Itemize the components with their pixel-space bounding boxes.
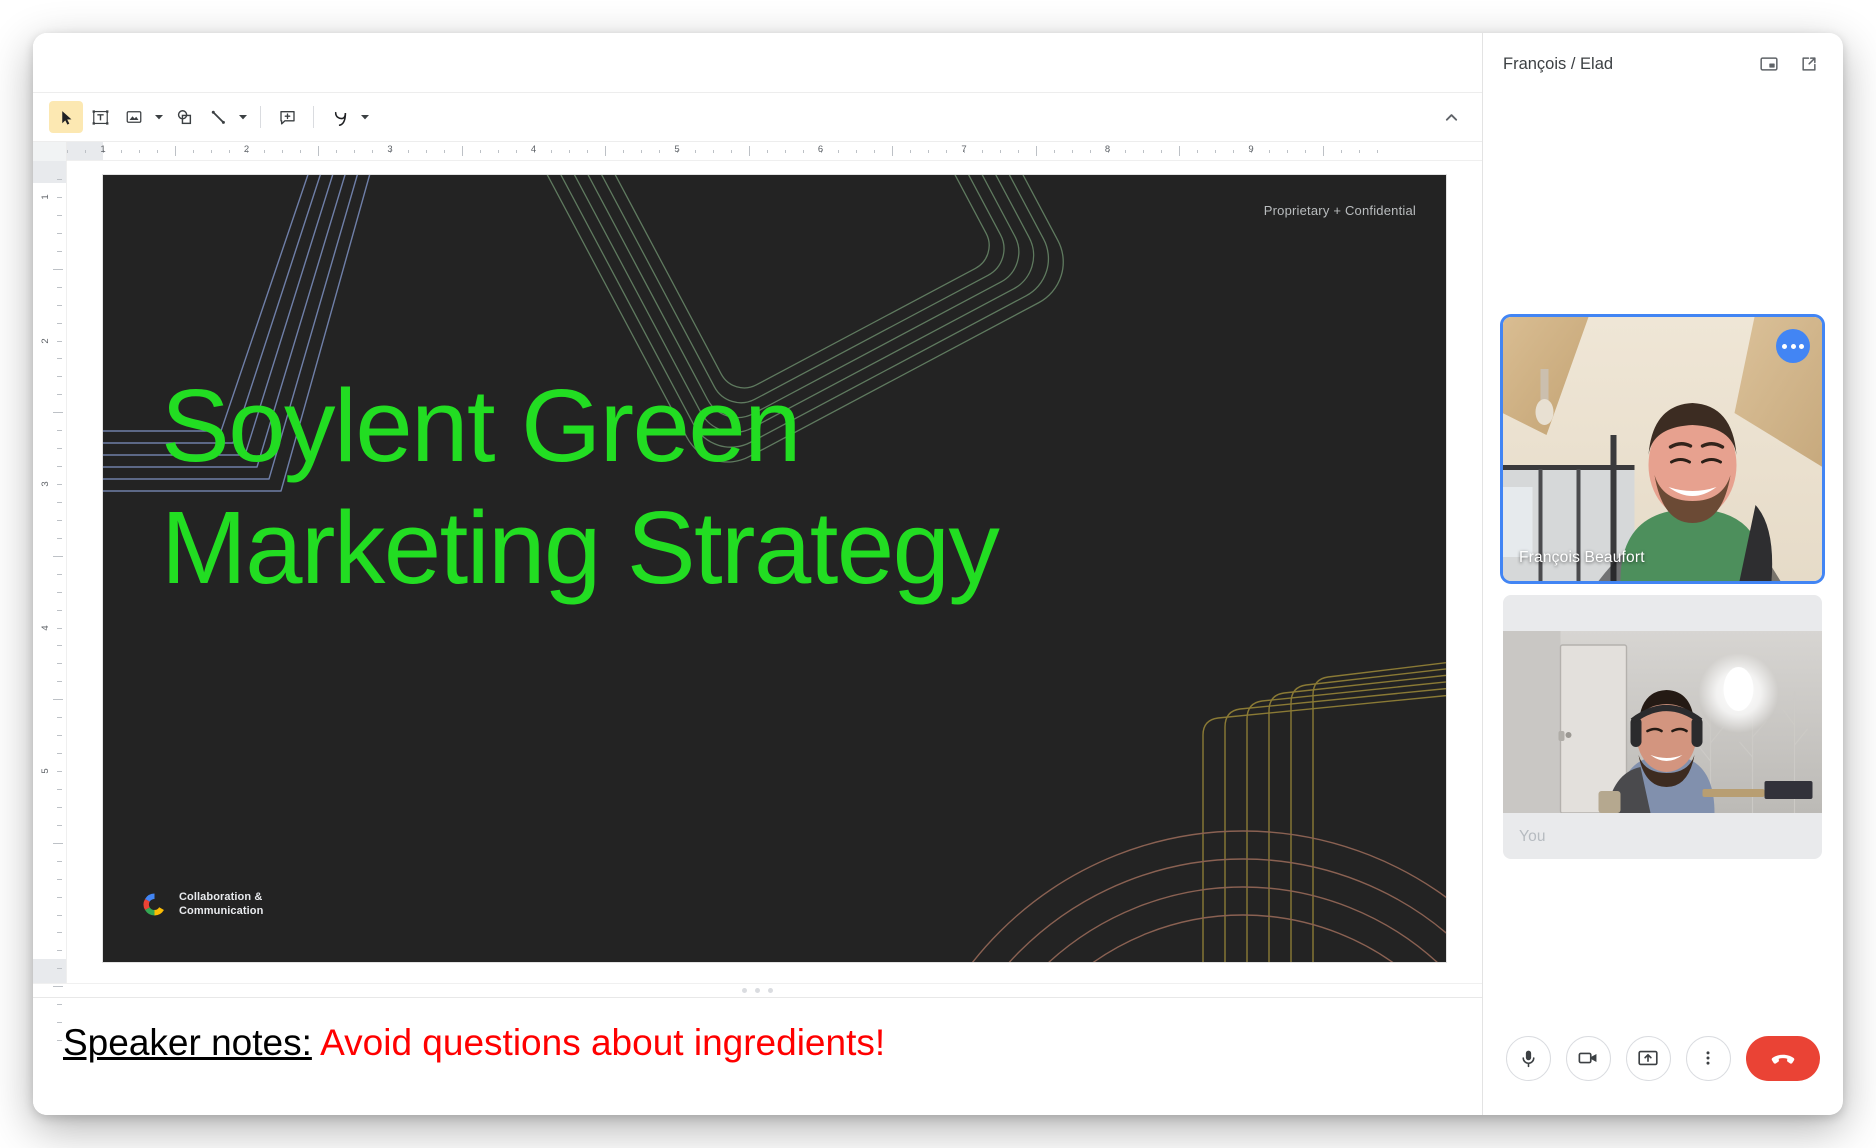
ruler-tick	[57, 825, 62, 826]
ruler-number: 3	[40, 481, 51, 486]
ruler-tick	[193, 150, 194, 153]
ruler-number: 4	[531, 144, 536, 155]
participant-tile[interactable]: François Beaufort	[1503, 317, 1822, 581]
ruler-tick	[749, 146, 750, 156]
ruler-number: 6	[818, 144, 823, 155]
ruler-tick	[551, 150, 552, 153]
ruler-tick	[57, 484, 62, 485]
speaker-notes-line: Speaker notes: Avoid questions about ing…	[63, 1020, 1452, 1065]
ruler-tick	[57, 681, 62, 682]
ruler-corner	[33, 142, 67, 161]
ruler-tick	[57, 520, 62, 521]
ruler-tick	[372, 150, 373, 153]
ruler-tick	[1072, 150, 1073, 153]
participant-tiles: François Beaufort	[1483, 95, 1842, 1007]
chevron-up-icon	[1444, 110, 1459, 125]
meet-side-panel: François / Elad	[1483, 33, 1842, 1115]
ruler-tick	[57, 897, 62, 898]
logo-text: Collaboration & Communication	[179, 891, 263, 919]
ruler-tick	[53, 699, 63, 700]
present-button[interactable]	[1626, 1036, 1671, 1081]
picture-in-picture-icon	[1759, 54, 1779, 74]
present-screen-icon	[1637, 1047, 1659, 1069]
ruler-tick	[1018, 150, 1019, 153]
notes-resize-handle[interactable]	[33, 983, 1482, 997]
ruler-tick	[53, 986, 63, 987]
ruler-number: 1	[40, 194, 51, 199]
toolbar-divider	[260, 106, 261, 128]
add-comment-button[interactable]	[270, 101, 304, 133]
slide-title[interactable]: Soylent Green Marketing Strategy	[161, 365, 1221, 608]
ruler-tick	[300, 150, 301, 153]
ruler-tick	[57, 1040, 62, 1041]
ruler-tick	[982, 150, 983, 153]
ruler-tick	[695, 150, 696, 153]
ruler-tick	[856, 150, 857, 153]
shape-icon	[175, 108, 194, 127]
ruler-tick	[53, 556, 63, 557]
ruler-number: 2	[40, 338, 51, 343]
slides-toolbar	[33, 92, 1482, 142]
more-vertical-icon	[1699, 1049, 1717, 1067]
ruler-tick	[57, 735, 62, 736]
ruler-tick	[57, 950, 62, 951]
ruler-tick	[1287, 150, 1288, 153]
ruler-tick	[57, 753, 62, 754]
ruler-tick	[1036, 146, 1037, 156]
ruler-tick	[462, 146, 463, 156]
shape-tool-button[interactable]	[167, 101, 201, 133]
ruler-tick	[57, 538, 62, 539]
scribble-icon	[330, 107, 351, 128]
ruler-tick	[1000, 150, 1001, 153]
ruler-tick	[175, 146, 176, 156]
ruler-tick	[498, 150, 499, 153]
application-window: 123456789 12345	[33, 33, 1843, 1115]
ruler-tick	[641, 150, 642, 153]
ruler-tick	[57, 233, 62, 234]
ruler-tick	[1125, 150, 1126, 153]
ruler-tick	[516, 150, 517, 153]
ruler-tick	[1143, 150, 1144, 153]
speaker-notes-label: Speaker notes:	[63, 1022, 312, 1063]
select-tool-button[interactable]	[49, 101, 83, 133]
ruler-tick	[731, 150, 732, 153]
ruler-tick	[57, 305, 62, 306]
add-comment-icon	[278, 108, 297, 127]
ruler-tick	[1197, 150, 1198, 153]
curve-tool-dropdown[interactable]	[357, 101, 373, 133]
ruler-tick	[229, 150, 230, 153]
ruler-tick	[57, 663, 62, 664]
chevron-down-icon	[360, 112, 370, 122]
meet-controls-bar	[1483, 1007, 1842, 1115]
ruler-number: 5	[40, 768, 51, 773]
ruler-tick	[57, 251, 62, 252]
microphone-icon	[1518, 1048, 1539, 1069]
slides-editor-pane: 123456789 12345	[33, 33, 1483, 1115]
ruler-tick	[57, 394, 62, 395]
speaker-notes-text[interactable]: Avoid questions about ingredients!	[320, 1022, 885, 1063]
ruler-number: 7	[961, 144, 966, 155]
canvas-area: 12345	[33, 161, 1482, 983]
ruler-tick	[57, 197, 62, 198]
ruler-tick	[713, 150, 714, 153]
microphone-button[interactable]	[1506, 1036, 1551, 1081]
image-tool-button[interactable]	[117, 101, 151, 133]
participant-name: François Beaufort	[1519, 549, 1645, 567]
ruler-tick	[157, 150, 158, 153]
ruler-tick	[1233, 150, 1234, 153]
vruler-margin-pad-bottom	[33, 959, 66, 983]
ruler-tick	[264, 150, 265, 153]
slide-logo: Collaboration & Communication	[139, 889, 263, 920]
ruler-tick	[57, 179, 62, 180]
ruler-tick	[910, 150, 911, 153]
meet-panel-header: François / Elad	[1483, 33, 1842, 95]
ruler-tick	[57, 574, 62, 575]
ruler-number: 4	[40, 625, 51, 630]
ruler-tick	[57, 968, 62, 969]
ruler-tick	[57, 717, 62, 718]
ruler-tick	[1161, 150, 1162, 153]
image-tool-dropdown[interactable]	[151, 101, 167, 133]
ruler-tick	[1323, 146, 1324, 156]
phone-hangup-icon	[1769, 1044, 1797, 1072]
ruler-tick	[53, 412, 63, 413]
video-frame-francois	[1503, 317, 1822, 581]
ruler-tick	[1341, 150, 1342, 153]
ruler-tick	[1090, 150, 1091, 153]
ruler-tick	[587, 150, 588, 153]
ruler-tick	[659, 150, 660, 153]
ruler-tick	[57, 861, 62, 862]
ruler-tick	[1377, 150, 1378, 153]
ruler-tick	[121, 150, 122, 153]
ruler-number: 2	[244, 144, 249, 155]
ruler-tick	[57, 1004, 62, 1005]
ruler-tick	[785, 150, 786, 153]
ruler-tick	[444, 150, 445, 153]
participant-tile[interactable]: You	[1503, 595, 1822, 859]
ruler-tick	[57, 592, 62, 593]
participant-more-options-button[interactable]	[1776, 329, 1810, 363]
ruler-tick	[139, 150, 140, 153]
notes-resize-grip	[742, 988, 773, 993]
ruler-tick	[57, 466, 62, 467]
ruler-tick	[1054, 150, 1055, 153]
chevron-down-icon	[154, 112, 164, 122]
camera-button[interactable]	[1566, 1036, 1611, 1081]
pink-concentric-arcs	[899, 831, 1446, 962]
ruler-number: 9	[1248, 144, 1253, 155]
participant-video	[1503, 631, 1822, 813]
ruler-tick	[57, 645, 62, 646]
ruler-tick	[282, 150, 283, 153]
ruler-tick	[318, 146, 319, 156]
picture-in-picture-button[interactable]	[1754, 49, 1784, 79]
ruler-tick	[57, 341, 62, 342]
video-frame-you	[1503, 631, 1822, 813]
ruler-tick	[57, 358, 62, 359]
line-tool-dropdown[interactable]	[235, 101, 251, 133]
ruler-tick	[57, 628, 62, 629]
ruler-tick	[803, 150, 804, 153]
participant-video	[1503, 317, 1822, 581]
ruler-tick	[480, 150, 481, 153]
confidentiality-label: Proprietary + Confidential	[1264, 203, 1416, 218]
ruler-tick	[767, 150, 768, 153]
ruler-tick	[53, 269, 63, 270]
chevron-down-icon	[238, 112, 248, 122]
ruler-tick	[57, 502, 62, 503]
toolbar-divider	[313, 106, 314, 128]
ruler-tick	[57, 771, 62, 772]
ruler-tick	[57, 789, 62, 790]
ruler-tick	[57, 610, 62, 611]
ruler-tick	[67, 150, 68, 153]
image-icon	[125, 108, 143, 126]
ruler-tick	[57, 376, 62, 377]
ruler-tick	[57, 915, 62, 916]
textbox-tool-button[interactable]	[83, 101, 117, 133]
collapse-toolbar-button[interactable]	[1438, 104, 1464, 130]
ruler-number: 8	[1105, 144, 1110, 155]
ruler-tick	[569, 150, 570, 153]
ruler-number: 1	[100, 144, 105, 155]
meet-call-title: François / Elad	[1503, 55, 1744, 74]
ruler-number: 5	[674, 144, 679, 155]
ruler-tick	[57, 879, 62, 880]
ruler-tick	[57, 215, 62, 216]
slide-canvas[interactable]: Proprietary + Confidential Soylent Green…	[103, 175, 1446, 962]
ruler-tick	[408, 150, 409, 153]
ruler-tick	[838, 150, 839, 153]
ruler-tick	[85, 150, 86, 153]
ruler-tick	[57, 323, 62, 324]
ruler-tick	[1305, 150, 1306, 153]
line-tool-button[interactable]	[201, 101, 235, 133]
ruler-tick	[1269, 150, 1270, 153]
ruler-tick	[57, 1022, 62, 1023]
ruler-tick	[336, 150, 337, 153]
ruler-tick	[53, 843, 63, 844]
line-icon	[209, 108, 228, 127]
ruler-tick	[874, 150, 875, 153]
ruler-tick	[57, 448, 62, 449]
ruler-number: 3	[387, 144, 392, 155]
ruler-tick	[57, 807, 62, 808]
ruler-tick	[605, 146, 606, 156]
ruler-tick	[57, 287, 62, 288]
open-in-new-icon	[1799, 54, 1819, 74]
collaboration-and-communication-logo-icon	[139, 889, 170, 920]
horizontal-ruler[interactable]: 123456789	[67, 142, 1482, 161]
vertical-ruler[interactable]: 12345	[33, 161, 67, 983]
ruler-row: 123456789	[33, 142, 1482, 161]
ruler-tick	[354, 150, 355, 153]
ruler-tick	[928, 150, 929, 153]
ruler-tick	[892, 146, 893, 156]
ruler-tick	[57, 932, 62, 933]
ruler-tick	[1215, 150, 1216, 153]
video-camera-icon	[1577, 1047, 1599, 1069]
ruler-tick	[57, 430, 62, 431]
cursor-arrow-icon	[58, 109, 75, 126]
ruler-tick	[1359, 150, 1360, 153]
editor-top-spacer	[33, 33, 1482, 92]
slide-stage: Proprietary + Confidential Soylent Green…	[67, 161, 1482, 983]
ruler-tick	[946, 150, 947, 153]
ruler-tick	[426, 150, 427, 153]
toolbar-tools-group	[49, 101, 373, 133]
speaker-notes-pane[interactable]: Speaker notes: Avoid questions about ing…	[33, 997, 1482, 1115]
curve-tool-button[interactable]	[323, 101, 357, 133]
participant-name: You	[1519, 828, 1546, 846]
text-box-icon	[91, 108, 110, 127]
ruler-tick	[623, 150, 624, 153]
ruler-tick	[211, 150, 212, 153]
hangup-button[interactable]	[1746, 1036, 1820, 1081]
gold-angled-lines	[1203, 651, 1446, 962]
open-in-new-window-button[interactable]	[1794, 49, 1824, 79]
more-options-button[interactable]	[1686, 1036, 1731, 1081]
ruler-tick	[1179, 146, 1180, 156]
